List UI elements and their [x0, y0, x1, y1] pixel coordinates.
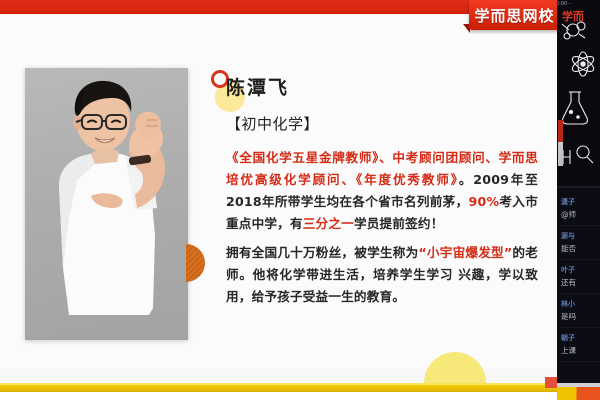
text-run: 拥有全国几十万粉丝，被学生称为 — [226, 245, 418, 260]
message-text: 还有 — [561, 277, 597, 288]
highlighted-text-run: 90% — [469, 194, 500, 209]
side-panel-message-list[interactable]: 潇子 @师 源与 能否 叶子 还有 林小 是吗 朝子 上课 — [557, 192, 600, 362]
decorative-red-square — [545, 377, 557, 388]
side-panel-footer-bar — [557, 387, 600, 400]
list-item[interactable]: 叶子 还有 — [557, 260, 600, 294]
teacher-subject-tag: 【初中化学】 — [226, 113, 538, 134]
list-item[interactable]: 潇子 @师 — [557, 192, 600, 226]
list-item[interactable]: 源与 能否 — [557, 226, 600, 260]
presentation-slide: 陈潭飞 【初中化学】 《全国化学五星金牌教师》、中考顾问团顾问、学而思培优高级化… — [0, 0, 600, 400]
bio-paragraph-1: 《全国化学五星金牌教师》、中考顾问团顾问、学而思培优高级化学顾问、《年度优秀教师… — [226, 147, 538, 235]
highlighted-text-run: “小宇宙爆发型” — [418, 245, 512, 260]
chemistry-doodles — [557, 0, 600, 186]
text-run: 学员提前签约！ — [354, 216, 444, 231]
bottom-white-strip — [0, 392, 557, 400]
message-user: 朝子 — [561, 333, 597, 343]
teacher-portrait-illustration — [25, 68, 188, 340]
message-text: @师 — [561, 209, 597, 220]
message-text: 能否 — [561, 243, 597, 254]
teacher-info-block: 陈潭飞 【初中化学】 《全国化学五星金牌教师》、中考顾问团顾问、学而思培优高级化… — [226, 78, 538, 308]
message-text: 上课 — [561, 345, 597, 356]
brand-logo-text: 学而思网校 — [474, 5, 554, 26]
message-user: 叶子 — [561, 265, 597, 275]
list-item[interactable]: 林小 是吗 — [557, 294, 600, 328]
message-user: 源与 — [561, 231, 597, 241]
side-panel-progress-fill[interactable] — [558, 120, 563, 142]
list-item[interactable]: 朝子 上课 — [557, 328, 600, 362]
live-class-side-panel[interactable]: 0:00 - 学而 — [557, 0, 600, 400]
brand-logo: 学而思网校 — [469, 0, 557, 30]
teacher-name: 陈潭飞 — [226, 78, 538, 99]
message-user: 潇子 — [561, 197, 597, 207]
bottom-gold-bar — [0, 385, 557, 392]
bio-paragraph-2: 拥有全国几十万粉丝，被学生称为“小宇宙爆发型”的老师。他将化学带进生活，培养学生… — [226, 242, 538, 308]
message-text: 是吗 — [561, 311, 597, 322]
teacher-photo — [25, 68, 188, 340]
highlighted-text-run: 三分之一 — [303, 216, 354, 231]
side-panel-video-area[interactable]: 0:00 - 学而 — [557, 0, 600, 186]
message-user: 林小 — [561, 299, 597, 309]
slide-card: 陈潭飞 【初中化学】 《全国化学五星金牌教师》、中考顾问团顾问、学而思培优高级化… — [0, 0, 557, 400]
side-panel-divider — [557, 186, 600, 188]
